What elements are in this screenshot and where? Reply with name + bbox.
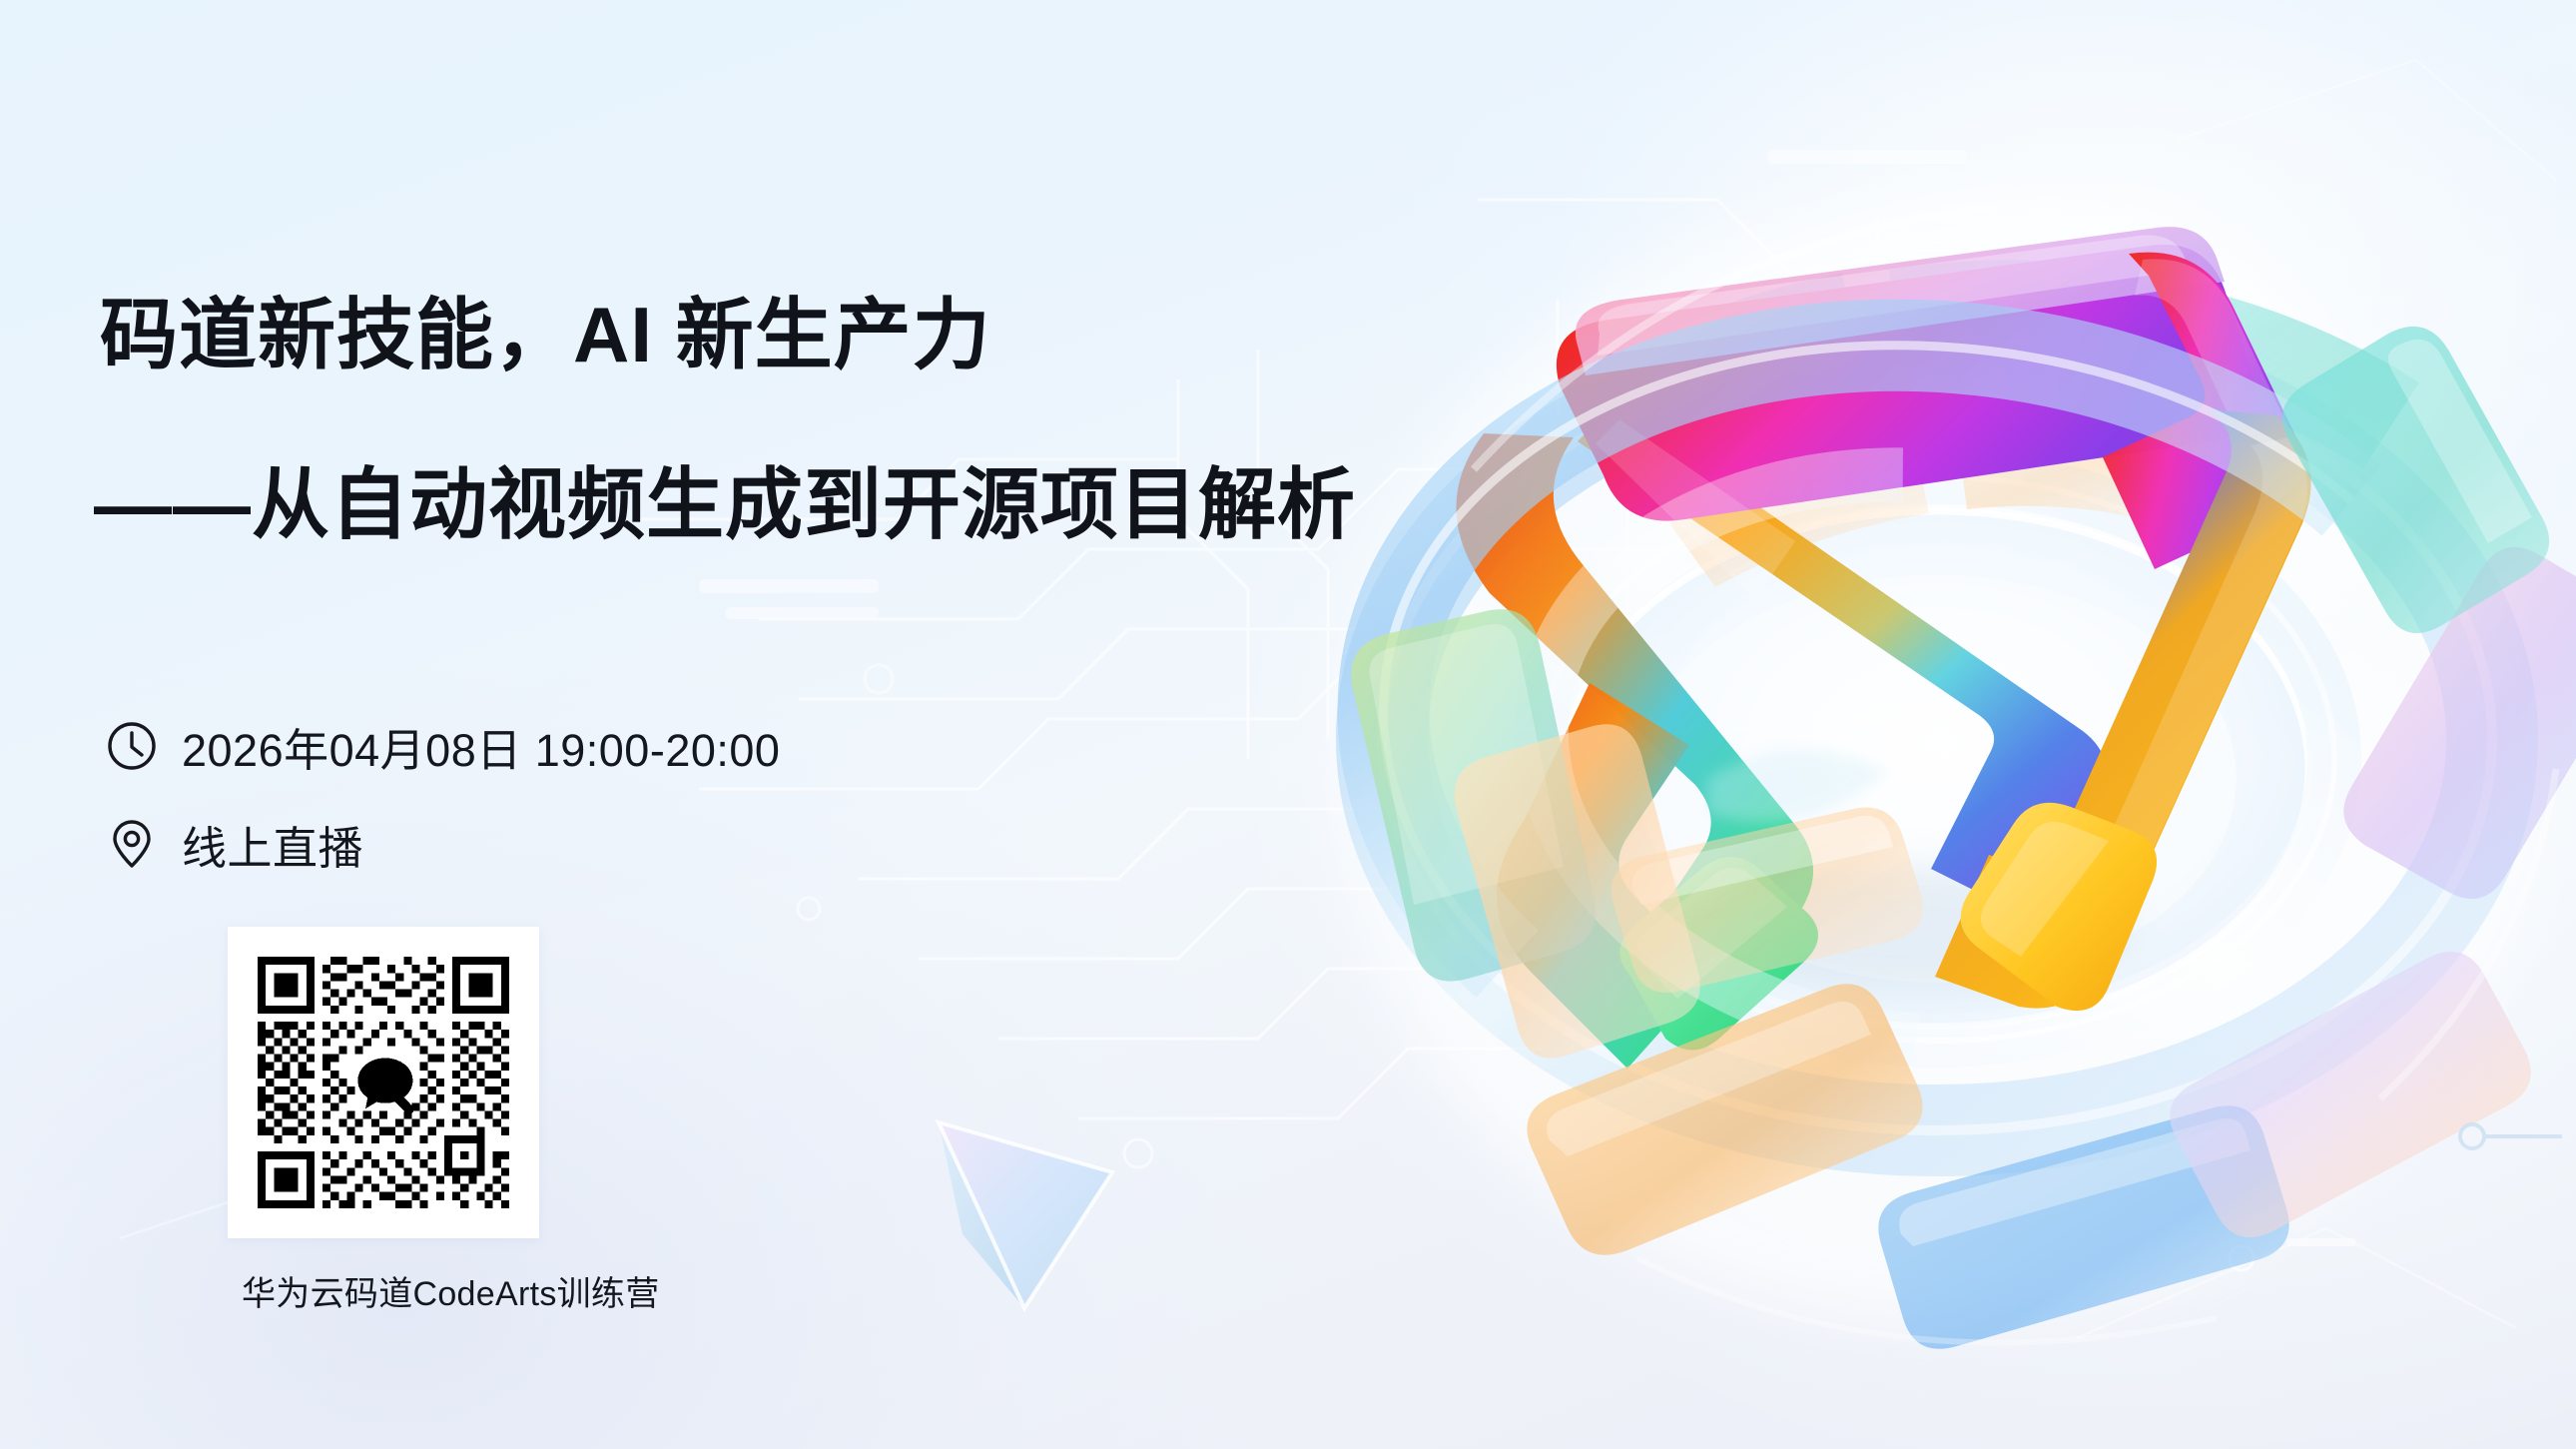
event-datetime-text: 2026年04月08日 19:00-20:00 <box>182 714 780 779</box>
glass-card-back-top <box>1578 260 2419 468</box>
glass-ring-inner-front <box>1505 424 2370 1092</box>
poster-content: 码道新技能，AI 新生产力 ——从自动视频生成到开源项目解析 2026年04月0… <box>100 0 1548 1449</box>
event-meta-list: 2026年04月08日 19:00-20:00 线上直播 <box>106 714 780 910</box>
event-location-text: 线上直播 <box>182 812 363 877</box>
event-datetime-row: 2026年04月08日 19:00-20:00 <box>106 714 780 778</box>
glass-card-front-bottom-left <box>1527 984 1922 1254</box>
event-location-row: 线上直播 <box>106 812 780 876</box>
glass-ring-inner-back <box>1540 477 2334 1041</box>
glass-card-inner-back <box>1669 429 2203 587</box>
page-title-line1: 码道新技能，AI 新生产力 <box>100 296 991 373</box>
glass-card-inner-front <box>1611 808 1923 993</box>
qr-code-matrix <box>250 949 517 1216</box>
glass-card-front-bottom-right <box>2170 952 2531 1237</box>
ribbon-sculpture <box>1456 227 2310 1069</box>
location-icon <box>106 818 158 870</box>
qr-code[interactable] <box>228 927 539 1238</box>
glass-card-front-bottom-center <box>1878 1105 2288 1349</box>
qr-block: 华为云码道CodeArts训练营 <box>228 927 539 1315</box>
glass-card-front-right <box>2343 547 2576 899</box>
glass-ring-outer-back <box>1382 348 2492 1130</box>
glass-card-front-top-right <box>2282 327 2549 633</box>
page-title-line2: ——从自动视频生成到开源项目解析 <box>94 465 1356 543</box>
clock-icon <box>106 720 158 772</box>
poster-canvas: 码道新技能，AI 新生产力 ——从自动视频生成到开源项目解析 2026年04月0… <box>0 0 2576 1449</box>
circuit-node-accent <box>2460 1124 2562 1148</box>
qr-caption: 华为云码道CodeArts训练营 <box>242 1266 553 1315</box>
